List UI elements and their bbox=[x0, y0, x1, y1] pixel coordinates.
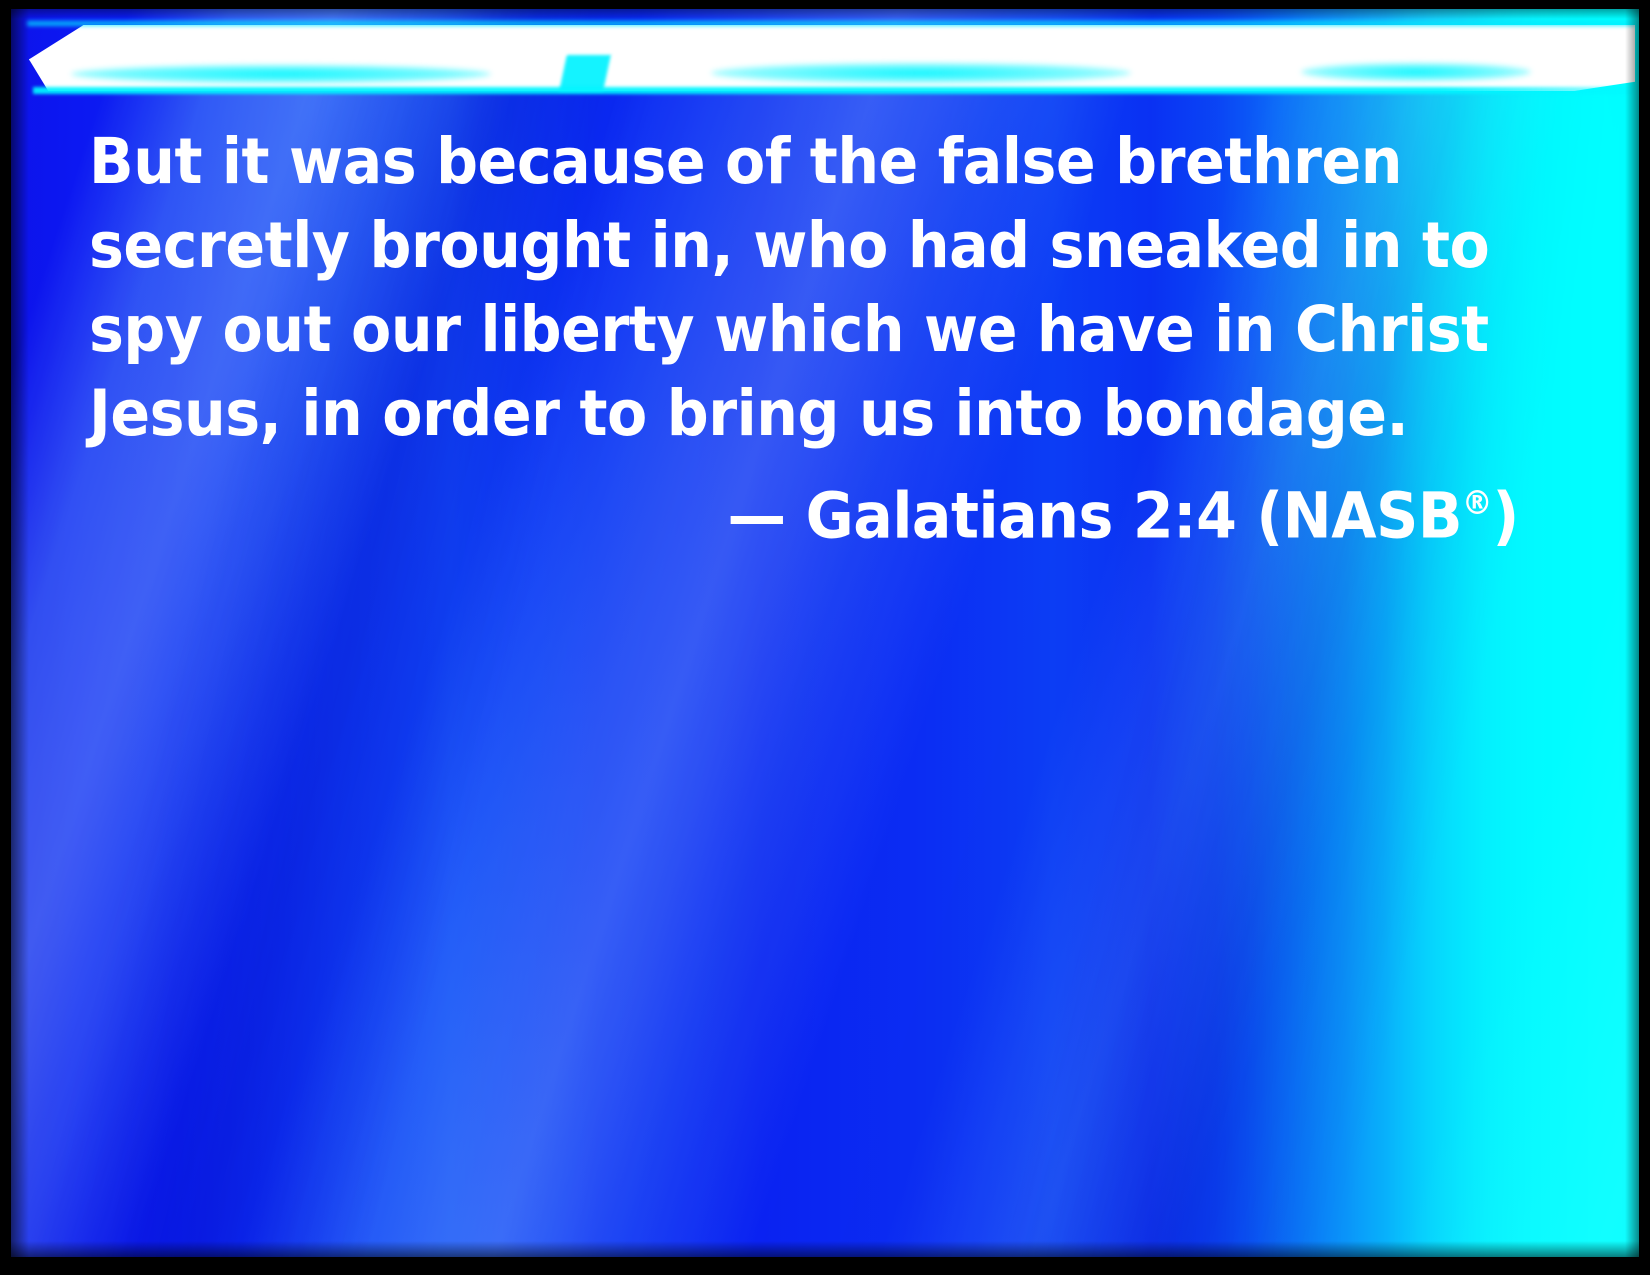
verse-attribution-inner: — Galatians 2:4 (NASB®) bbox=[728, 470, 1519, 550]
attribution-space-2 bbox=[1237, 480, 1257, 553]
attribution-space-1 bbox=[786, 480, 806, 553]
verse-line-3: spy out our liberty which we have in Chr… bbox=[89, 297, 1419, 363]
slide-frame: But it was because of the false brethren… bbox=[0, 0, 1650, 1275]
attribution-close-paren: ) bbox=[1493, 480, 1519, 553]
verse-line-4: Jesus, in order to bring us into bondage… bbox=[89, 381, 1419, 447]
verse-attribution: — Galatians 2:4 (NASB®) bbox=[89, 470, 1519, 550]
slide-artwork: But it was because of the false brethren… bbox=[11, 9, 1639, 1257]
registered-trademark-icon: ® bbox=[1462, 484, 1492, 522]
attribution-dash: — bbox=[728, 480, 786, 553]
attribution-reference: Galatians 2:4 bbox=[806, 480, 1237, 553]
attribution-translation: NASB bbox=[1283, 480, 1462, 553]
verse-line-1: But it was because of the false brethren bbox=[89, 129, 1419, 195]
verse-line-2: secretly brought in, who had sneaked in … bbox=[89, 213, 1419, 279]
attribution-open-paren: ( bbox=[1257, 480, 1283, 553]
